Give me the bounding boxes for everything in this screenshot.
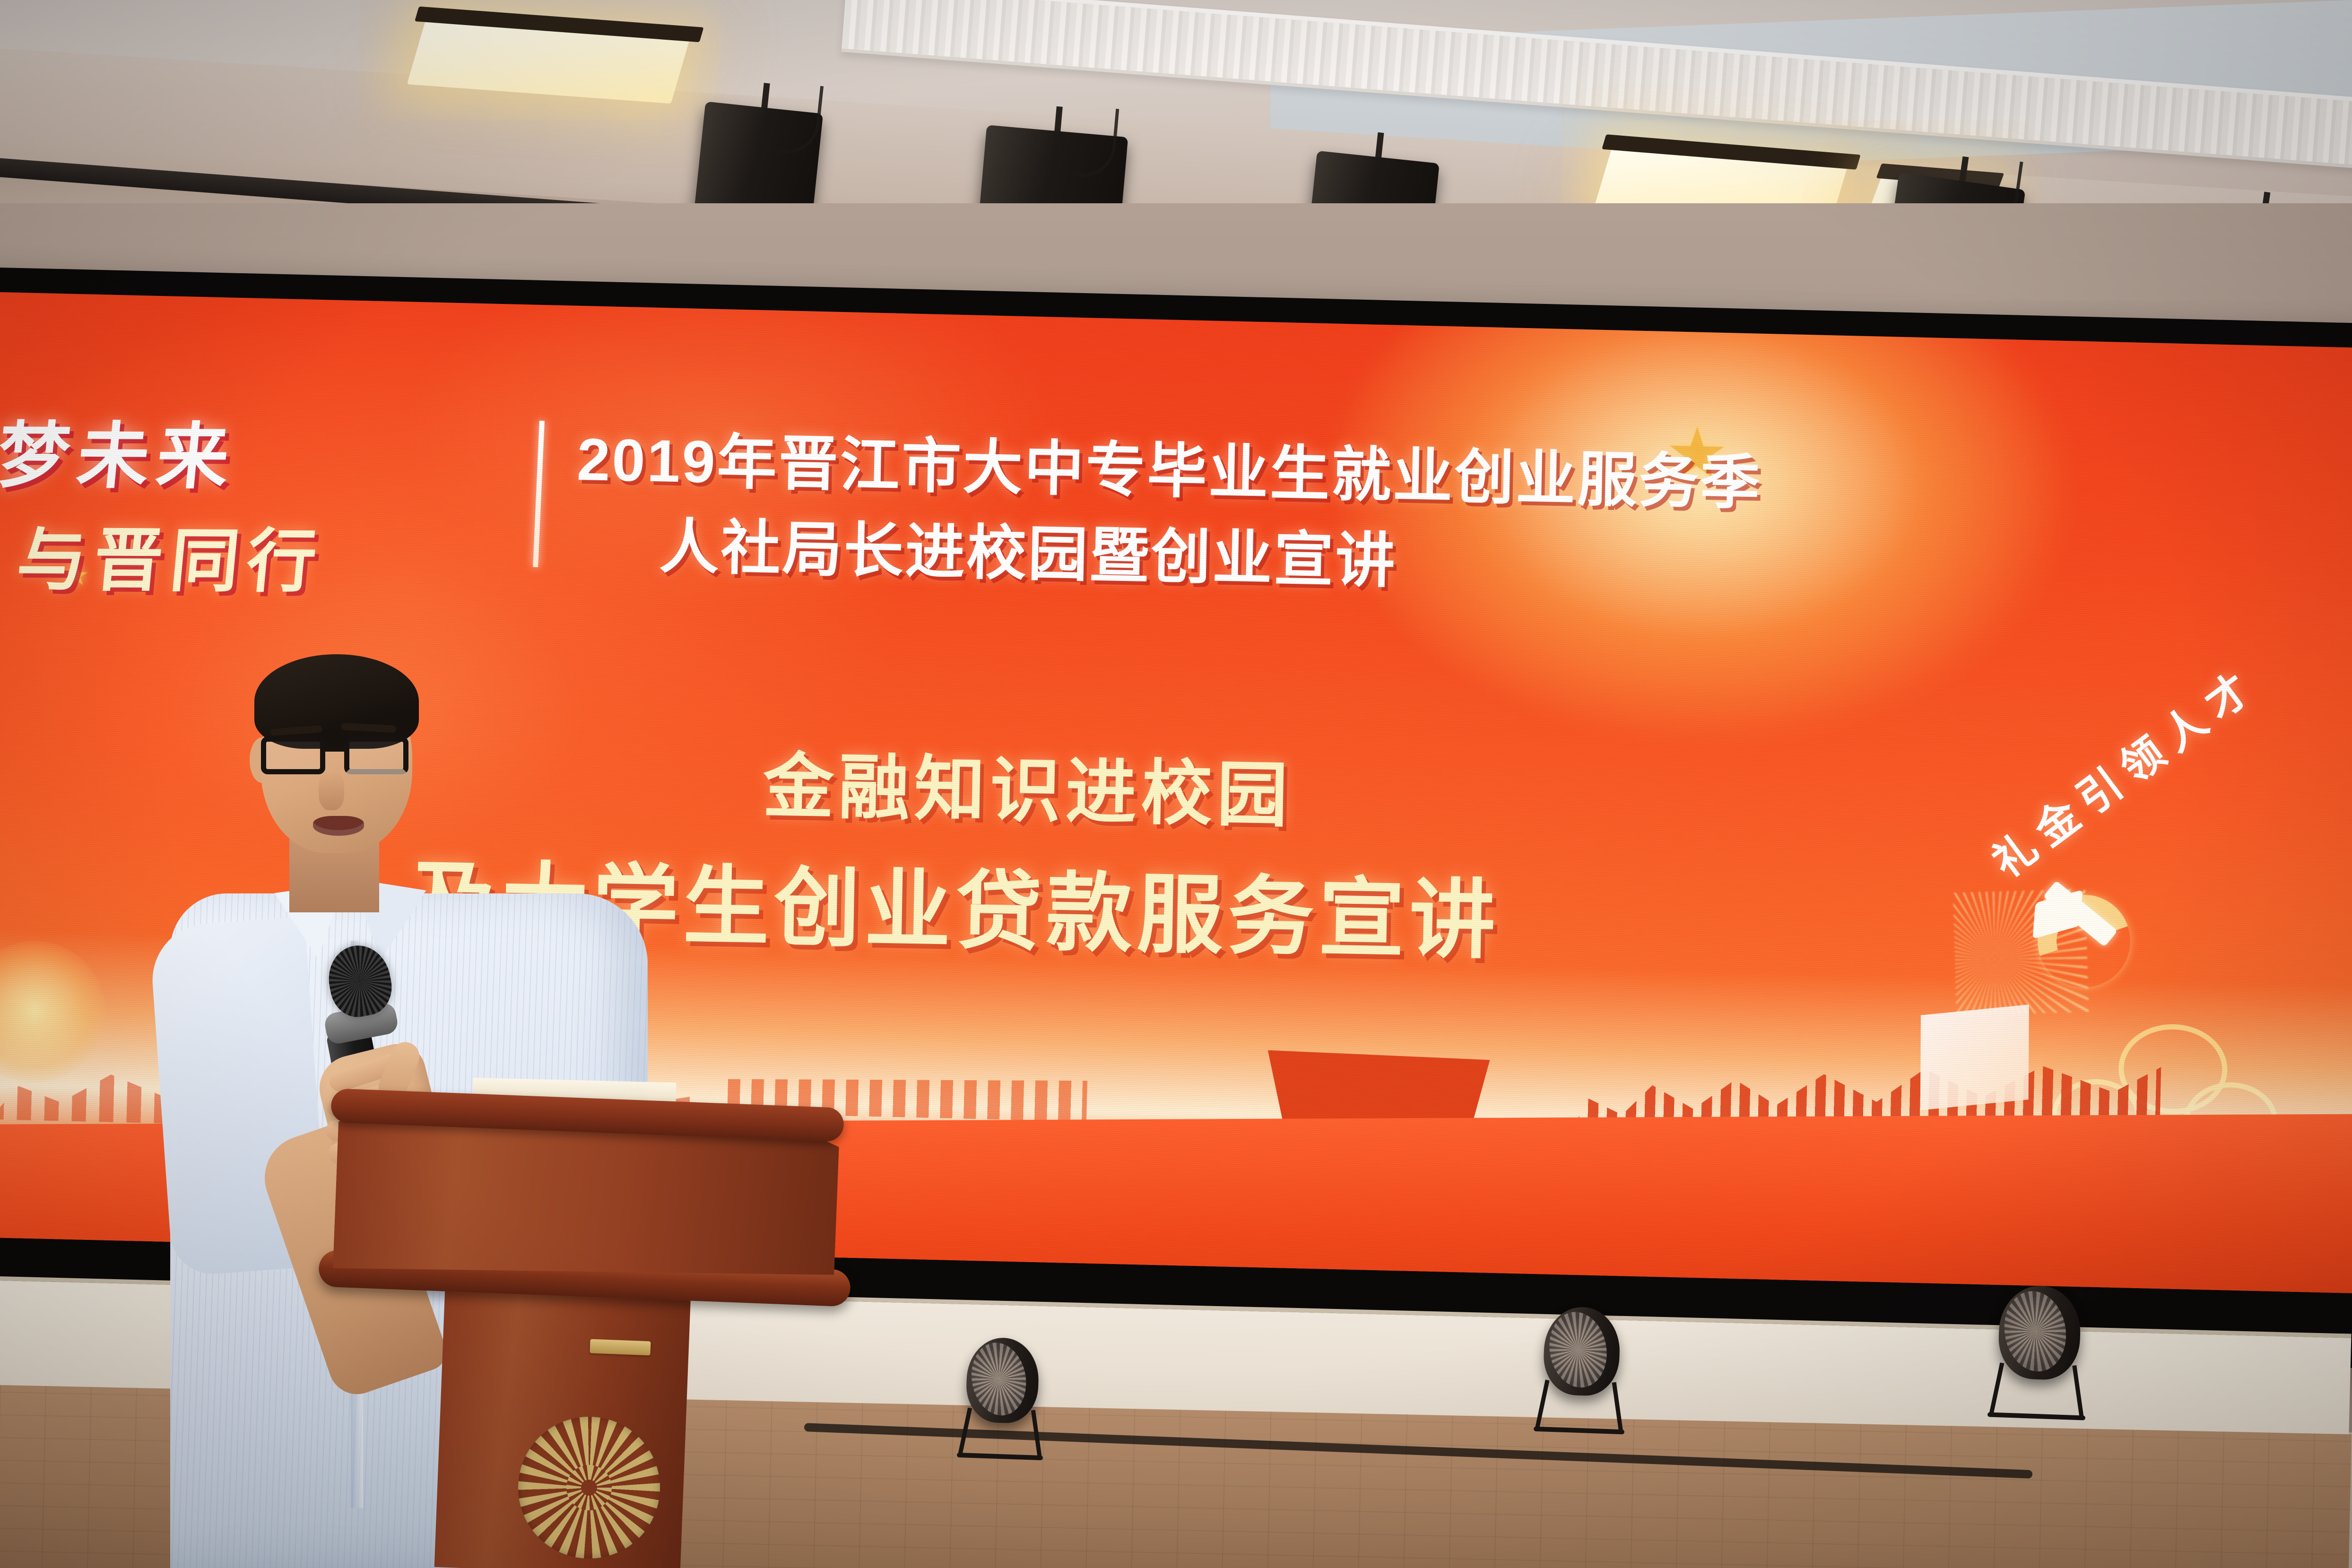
stage-photo-scene: ★ ★ ★ ★ ★ 筑梦未来 与晋同行 2019年晋江市大中专毕业生就业创业服务… [0, 0, 2352, 1568]
screen-right-calligraphy: 礼金引领人才 [1978, 650, 2269, 889]
speaker-mouth [313, 816, 364, 836]
slogan-line-1: 筑梦未来 [0, 397, 482, 504]
banner-flag-silhouette [1920, 1005, 2029, 1110]
floor-par-light [1986, 1284, 2092, 1417]
screen-headline: 2019年晋江市大中专毕业生就业创业服务季 人社局长进校园暨创业宣讲 [574, 416, 2209, 621]
podium-nameplate [590, 1339, 651, 1356]
floor-par-light [1532, 1306, 1631, 1432]
subtitle-line-1: 金融知识进校园 [762, 728, 2022, 854]
podium [331, 1071, 856, 1568]
slogan-line-2: 与晋同行 [13, 504, 481, 607]
floor-par-light [955, 1336, 1049, 1457]
screen-left-slogan: 筑梦未来 与晋同行 [0, 397, 477, 606]
speaker-nose [319, 771, 344, 810]
glasses-icon [261, 736, 417, 777]
